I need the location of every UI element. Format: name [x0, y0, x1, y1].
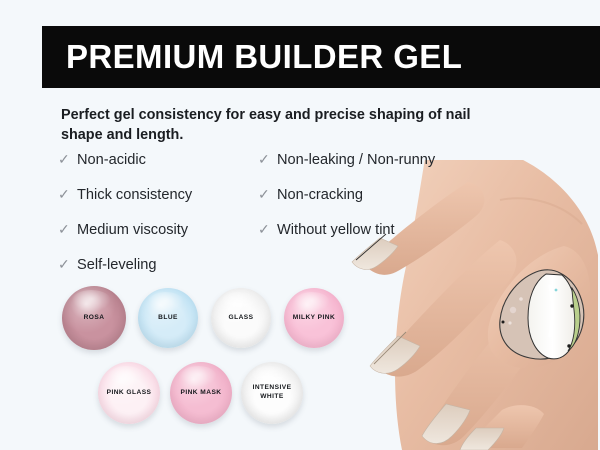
- swatch-gloss: [72, 290, 110, 312]
- swatch-milky-pink[interactable]: MILKY PINK: [284, 288, 344, 348]
- swatch-rosa[interactable]: ROSA: [62, 286, 126, 350]
- swatch-glass[interactable]: GLASS: [211, 288, 271, 348]
- swatch-label: PINK MASK: [180, 389, 221, 398]
- swatch-label: PINK GLASS: [107, 389, 152, 398]
- swatch-label: GLASS: [229, 314, 254, 323]
- swatch-label: BLUE: [158, 314, 178, 323]
- product-infographic: PREMIUM BUILDER GEL Perfect gel consiste…: [0, 0, 600, 450]
- swatch-blue[interactable]: BLUE: [138, 288, 198, 348]
- swatch-gloss: [148, 292, 184, 312]
- swatch-gloss: [180, 366, 217, 387]
- swatch-label: ROSA: [84, 314, 105, 323]
- swatch-label: INTENSIVE WHITE: [241, 384, 303, 402]
- swatch-gloss: [221, 292, 257, 312]
- swatch-gloss: [251, 366, 288, 387]
- swatch-intensive-white[interactable]: INTENSIVE WHITE: [241, 362, 303, 424]
- swatch-pink-mask[interactable]: PINK MASK: [170, 362, 232, 424]
- swatch-label: MILKY PINK: [293, 314, 335, 323]
- swatch-gloss: [294, 292, 330, 312]
- color-swatch-group: ROSA BLUE GLASS MILKY PINK PINK GLASS PI…: [0, 0, 600, 450]
- swatch-pink-glass[interactable]: PINK GLASS: [98, 362, 160, 424]
- swatch-gloss: [108, 366, 145, 387]
